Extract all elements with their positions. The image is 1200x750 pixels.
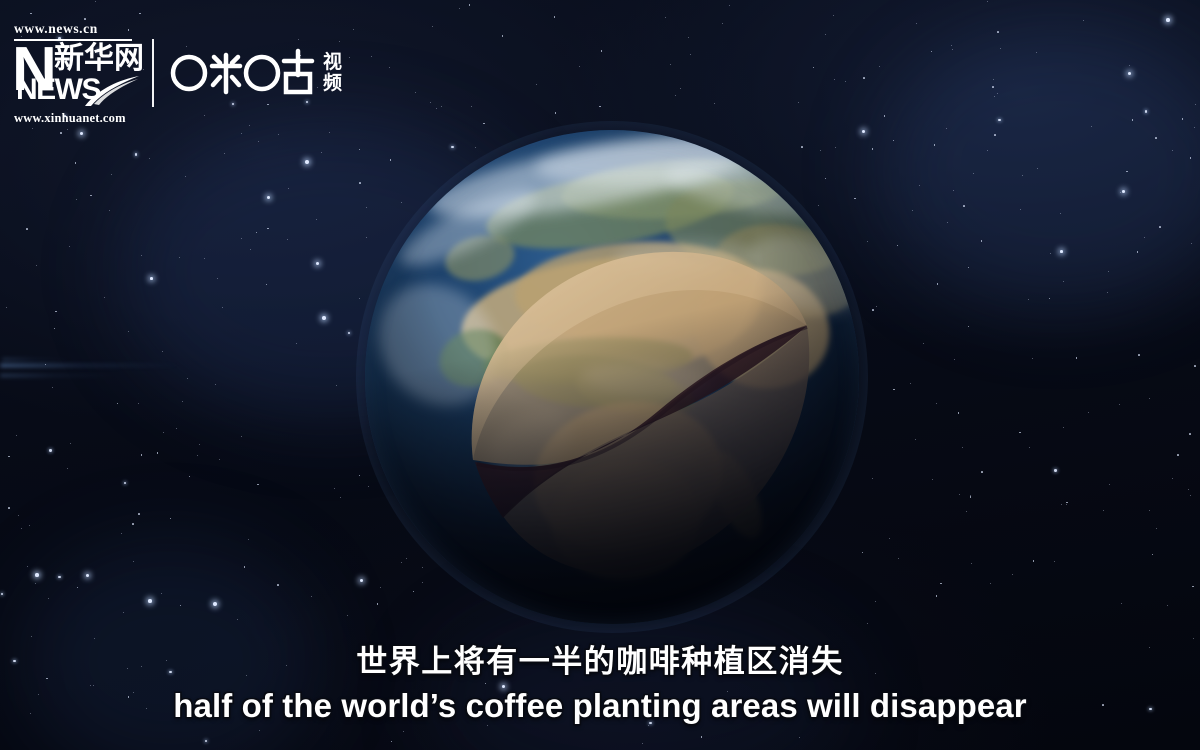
star — [287, 239, 288, 240]
star — [1156, 528, 1157, 529]
subtitle-english: half of the world’s coffee planting area… — [0, 684, 1200, 728]
star — [224, 153, 225, 154]
star — [149, 158, 150, 159]
star-bright — [1166, 18, 1170, 22]
subtitle-block: 世界上将有一半的咖啡种植区消失 half of the world’s coff… — [0, 640, 1200, 728]
star — [876, 306, 877, 307]
star — [1193, 638, 1194, 639]
star — [244, 566, 246, 568]
star — [940, 583, 942, 585]
star — [117, 403, 119, 405]
star — [334, 488, 335, 489]
star — [987, 150, 988, 151]
star — [359, 475, 361, 477]
star — [1083, 20, 1084, 21]
star — [1119, 404, 1120, 405]
star — [95, 1, 96, 2]
star — [1066, 502, 1068, 504]
star — [729, 5, 730, 6]
migu-sub-label-char: 视 — [323, 52, 342, 73]
star — [199, 444, 200, 445]
star — [893, 389, 895, 391]
star — [109, 210, 110, 211]
star — [257, 484, 259, 486]
star-bright — [322, 316, 326, 320]
star — [1022, 175, 1023, 176]
earth-globe — [365, 130, 859, 624]
star — [163, 432, 164, 433]
star — [104, 297, 105, 298]
star — [16, 435, 17, 436]
star — [1, 593, 3, 595]
star — [80, 132, 84, 136]
star — [215, 384, 216, 385]
star — [267, 228, 269, 230]
star — [599, 106, 601, 108]
star — [981, 240, 983, 242]
migu-video-logo[interactable]: 视频 — [170, 38, 342, 108]
star — [875, 601, 876, 602]
star — [867, 241, 868, 242]
star — [29, 525, 30, 526]
star — [884, 115, 886, 117]
star — [348, 332, 350, 334]
star — [963, 205, 965, 207]
star-bright — [1128, 72, 1131, 75]
star — [258, 141, 259, 142]
star — [919, 185, 920, 186]
star — [502, 35, 504, 37]
star — [189, 476, 191, 478]
star — [798, 102, 799, 103]
star — [1054, 469, 1056, 471]
star — [391, 741, 393, 743]
star — [135, 153, 137, 155]
star — [76, 199, 77, 200]
star-bright — [1122, 190, 1125, 193]
star — [912, 210, 913, 211]
star — [952, 49, 953, 50]
star-bright — [1060, 250, 1063, 253]
star — [1091, 126, 1092, 127]
star — [54, 328, 56, 330]
star — [138, 403, 139, 404]
star — [278, 134, 279, 135]
star — [994, 96, 995, 97]
star — [222, 307, 223, 308]
star — [701, 736, 703, 738]
star — [27, 566, 28, 567]
star — [947, 222, 948, 223]
star — [359, 298, 360, 299]
star — [799, 737, 800, 738]
star — [670, 64, 671, 65]
star — [70, 443, 71, 444]
subtitle-chinese: 世界上将有一半的咖啡种植区消失 — [0, 640, 1200, 684]
star — [992, 86, 994, 88]
star — [1121, 603, 1122, 604]
star — [288, 188, 289, 189]
star — [148, 599, 152, 603]
migu-sub-label: 视频 — [323, 52, 342, 94]
xinhua-bottom-url: www.xinhuanet.com — [14, 111, 126, 126]
star-bright — [862, 130, 865, 133]
star — [863, 77, 865, 79]
star — [316, 219, 317, 220]
star — [893, 140, 895, 142]
star — [6, 307, 7, 308]
star — [35, 583, 36, 584]
star — [469, 4, 471, 6]
star — [75, 162, 77, 164]
star — [250, 249, 251, 250]
star — [555, 112, 557, 114]
star-bright — [316, 262, 319, 265]
migu-brand-mark — [170, 45, 318, 101]
star — [690, 54, 691, 55]
star — [675, 95, 676, 96]
star — [141, 255, 142, 256]
star — [923, 343, 924, 344]
star — [90, 195, 92, 197]
star — [910, 383, 911, 384]
star — [936, 595, 938, 597]
star — [67, 129, 68, 130]
star — [951, 45, 952, 46]
star — [973, 173, 974, 174]
logo-bar: www.news.cn N 新华网 NEWS www.xinhuanet.com — [10, 18, 342, 128]
star — [161, 593, 162, 594]
star — [845, 81, 846, 82]
star — [1029, 447, 1030, 448]
star — [1145, 110, 1147, 112]
star — [217, 278, 218, 279]
star — [349, 57, 350, 58]
star — [185, 176, 186, 177]
star — [124, 482, 126, 484]
star — [981, 471, 983, 473]
star — [111, 174, 112, 175]
earth-sphere — [365, 130, 859, 624]
star — [867, 623, 868, 624]
star — [954, 359, 955, 360]
star — [680, 88, 681, 89]
star — [403, 731, 404, 732]
star — [968, 326, 970, 328]
star — [714, 103, 715, 104]
star — [722, 23, 723, 24]
star — [45, 364, 47, 366]
star — [432, 26, 433, 27]
star — [1000, 48, 1001, 49]
star — [1152, 554, 1154, 556]
star — [1126, 171, 1128, 173]
star — [1076, 357, 1078, 359]
star — [187, 378, 188, 379]
star — [1129, 65, 1130, 66]
star — [359, 149, 361, 151]
star — [415, 92, 416, 93]
star — [601, 50, 603, 52]
star-bright — [267, 196, 270, 199]
star — [36, 265, 37, 266]
star — [879, 66, 880, 67]
star — [359, 182, 361, 184]
star — [1190, 157, 1192, 159]
star — [1063, 427, 1064, 428]
star — [436, 108, 437, 109]
star — [970, 496, 972, 498]
star — [1054, 561, 1055, 562]
star — [946, 128, 947, 129]
star — [133, 561, 134, 562]
star — [987, 1, 988, 2]
star — [579, 66, 580, 67]
star — [1019, 432, 1021, 434]
star — [536, 84, 537, 85]
star — [1172, 478, 1173, 479]
star — [1049, 298, 1051, 300]
star — [8, 456, 10, 458]
star — [833, 15, 834, 16]
star — [430, 102, 431, 103]
star — [471, 106, 472, 107]
star — [123, 612, 124, 613]
star — [813, 67, 815, 69]
star — [953, 190, 954, 191]
star — [371, 56, 372, 57]
star — [353, 29, 354, 30]
star — [1137, 251, 1139, 253]
star — [241, 133, 242, 134]
star — [197, 455, 198, 456]
star-bright — [150, 277, 153, 280]
star — [1050, 253, 1051, 254]
star — [915, 439, 916, 440]
star — [934, 144, 936, 146]
star — [994, 134, 996, 136]
star — [959, 494, 960, 495]
star — [1138, 354, 1140, 356]
star — [237, 619, 238, 620]
star — [1194, 365, 1196, 367]
star — [971, 563, 972, 564]
star — [182, 401, 183, 402]
star — [141, 454, 143, 456]
star — [360, 579, 364, 583]
star — [48, 598, 49, 599]
star — [1088, 412, 1089, 413]
star — [60, 132, 62, 134]
star — [277, 584, 279, 586]
xinhua-net-logo[interactable]: www.news.cn N 新华网 NEWS www.xinhuanet.com — [10, 19, 138, 127]
star — [441, 106, 442, 107]
star — [1066, 504, 1067, 505]
star — [21, 528, 22, 529]
star — [916, 23, 917, 24]
star — [937, 283, 939, 285]
star — [321, 152, 322, 153]
star — [1192, 586, 1194, 588]
star — [1103, 510, 1104, 511]
video-frame: www.news.cn N 新华网 NEWS www.xinhuanet.com — [0, 0, 1200, 750]
star — [642, 743, 643, 744]
star — [347, 615, 348, 616]
star — [1155, 137, 1157, 139]
star — [1144, 237, 1145, 238]
star — [932, 479, 933, 480]
swoosh-icon — [84, 73, 140, 107]
star — [77, 587, 79, 589]
star — [1108, 271, 1109, 272]
star — [1028, 299, 1029, 300]
star — [1061, 504, 1062, 505]
star — [688, 37, 689, 38]
star — [132, 523, 134, 525]
star — [248, 539, 249, 540]
star — [1120, 192, 1121, 193]
star — [1149, 510, 1150, 511]
star — [1036, 52, 1037, 53]
limb-darkening — [365, 130, 859, 624]
star — [31, 636, 32, 637]
star — [554, 16, 556, 18]
star — [958, 412, 960, 414]
star — [241, 238, 242, 239]
star — [898, 558, 899, 559]
star — [459, 8, 460, 9]
star — [1194, 127, 1195, 128]
star — [968, 267, 970, 269]
star — [179, 257, 180, 258]
star — [825, 34, 826, 35]
star — [1109, 484, 1110, 485]
star — [962, 447, 963, 448]
migu-sub-label-char: 频 — [323, 73, 342, 94]
star — [872, 309, 874, 311]
star — [862, 552, 864, 554]
star — [1033, 560, 1035, 562]
star — [52, 387, 53, 388]
star — [241, 436, 242, 437]
star — [993, 79, 994, 80]
star — [58, 576, 60, 578]
star — [340, 497, 341, 498]
star — [1182, 118, 1184, 120]
star — [936, 403, 937, 404]
star — [259, 730, 260, 731]
star — [1060, 213, 1061, 214]
star — [483, 123, 485, 125]
star — [176, 428, 177, 429]
star-bright — [86, 574, 89, 577]
star — [49, 449, 51, 451]
star — [1167, 605, 1168, 606]
star — [1132, 119, 1134, 121]
star — [1012, 574, 1013, 575]
star — [30, 13, 32, 15]
star — [872, 478, 873, 479]
star — [329, 132, 330, 133]
star — [990, 583, 991, 584]
star — [834, 79, 835, 80]
star — [67, 468, 68, 469]
star — [872, 148, 874, 150]
star — [1189, 433, 1191, 435]
star — [26, 228, 28, 230]
star — [180, 605, 182, 607]
star — [35, 573, 39, 577]
star — [1191, 243, 1192, 244]
star — [998, 119, 1000, 121]
xinhua-chinese-name: 新华网 — [54, 43, 144, 74]
star — [157, 452, 159, 454]
star — [1177, 454, 1179, 456]
star — [1195, 104, 1196, 105]
star — [256, 232, 258, 234]
star — [55, 311, 57, 313]
star — [997, 93, 998, 94]
star — [1063, 281, 1064, 282]
star — [1188, 489, 1189, 490]
star — [139, 13, 141, 15]
star — [18, 515, 19, 516]
migu-sub-label-text: 视频 — [323, 52, 342, 94]
star — [931, 51, 933, 53]
star — [1107, 292, 1108, 293]
star — [219, 459, 220, 460]
star — [138, 513, 140, 515]
star-bright — [213, 602, 217, 606]
star — [162, 351, 163, 352]
star — [1190, 495, 1191, 496]
star — [8, 507, 10, 509]
star — [204, 258, 205, 259]
star — [1032, 358, 1033, 359]
star — [296, 343, 297, 344]
star — [1020, 209, 1021, 210]
star — [966, 511, 967, 512]
star — [1172, 150, 1173, 151]
star — [311, 596, 312, 597]
logo-divider — [152, 39, 154, 107]
star — [121, 533, 122, 534]
star — [128, 331, 129, 332]
star — [389, 67, 390, 68]
star — [266, 284, 268, 286]
star — [889, 538, 890, 539]
star — [170, 518, 172, 520]
star — [69, 246, 70, 247]
star — [336, 385, 337, 386]
star — [665, 17, 666, 18]
star — [205, 740, 207, 742]
star — [997, 31, 999, 33]
star — [1149, 398, 1150, 399]
star-bright — [305, 160, 309, 164]
star — [1159, 226, 1161, 228]
star — [897, 245, 899, 247]
star — [1037, 168, 1038, 169]
